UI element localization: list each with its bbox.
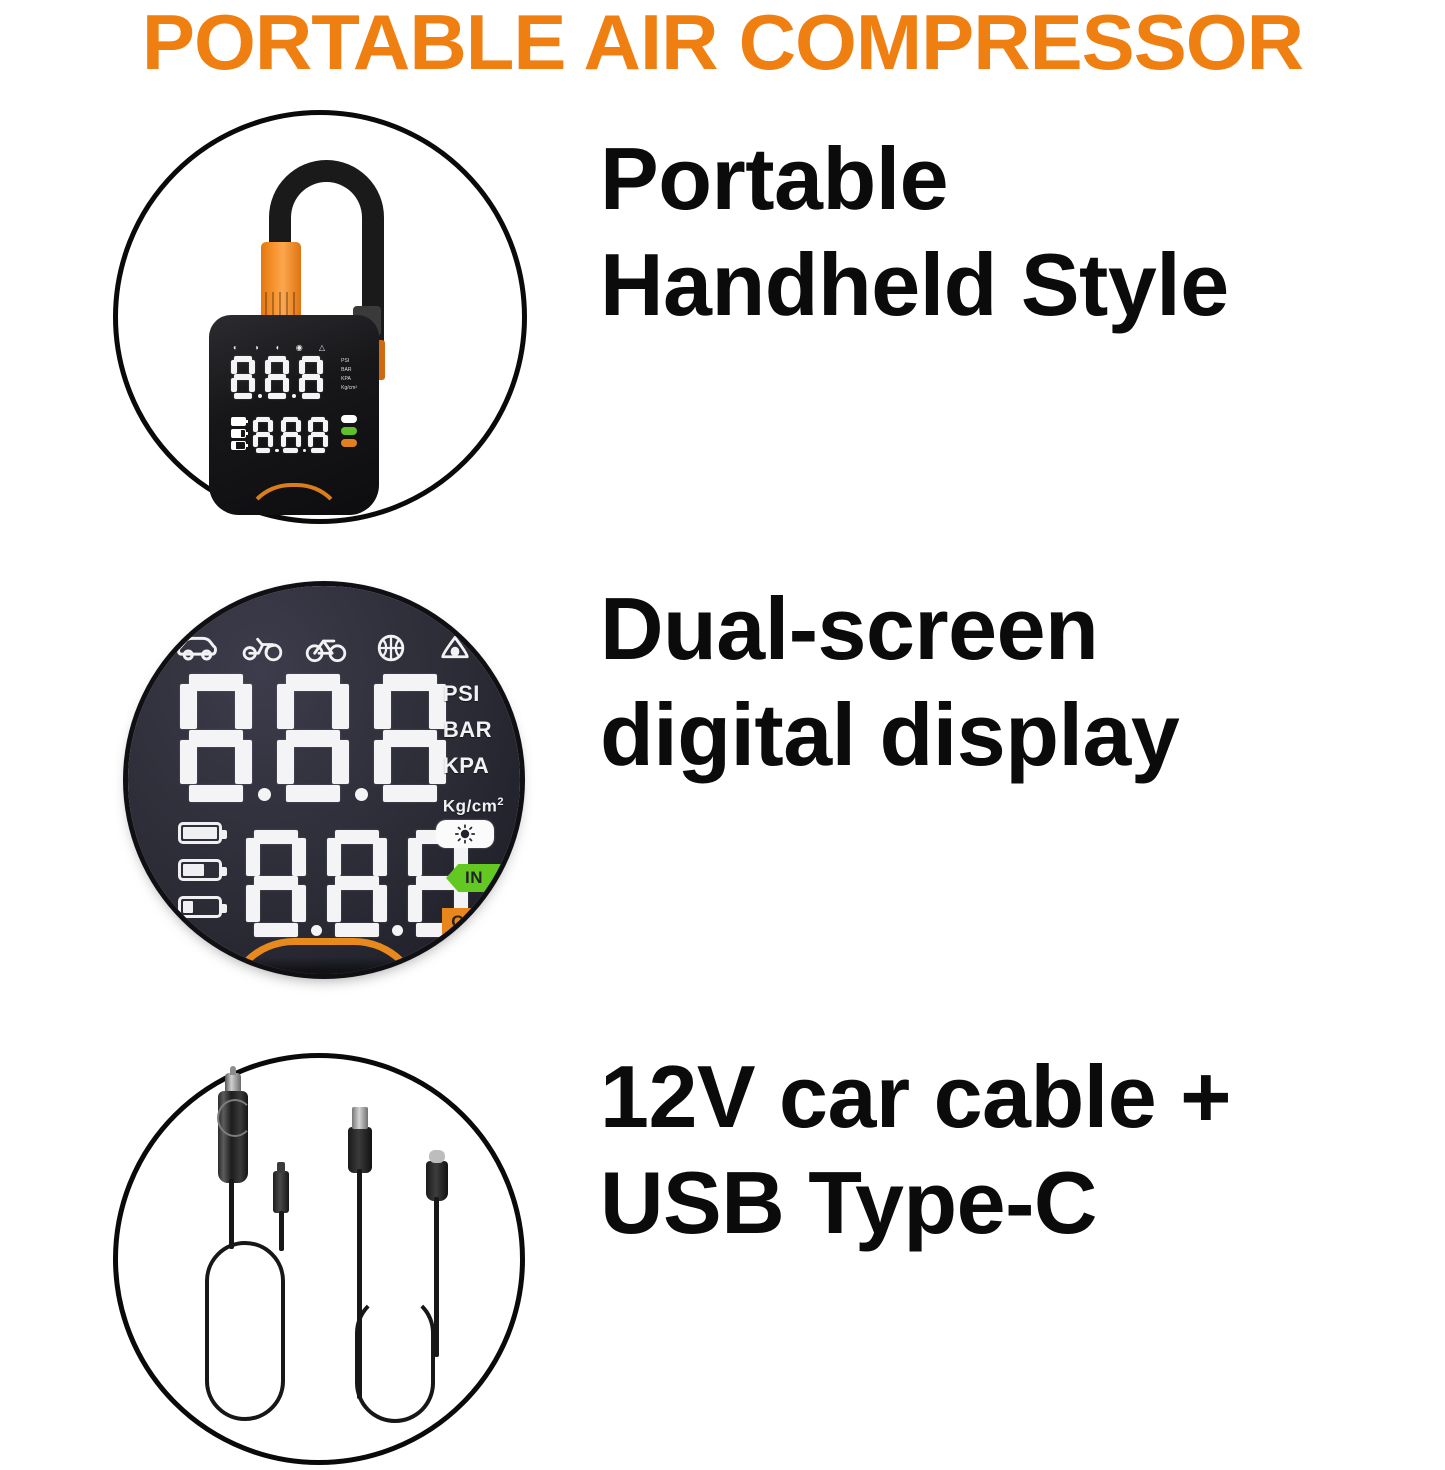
unit-labels: PSI BAR KPA Kg/cm2	[443, 676, 504, 825]
segment-d	[311, 448, 326, 453]
inflatable-icon: △	[319, 343, 325, 353]
unit-psi: PSI	[443, 676, 504, 712]
segment-b	[332, 684, 349, 729]
inflatable-icon	[434, 632, 476, 664]
decimal-point	[258, 394, 262, 398]
mini-unit-kgcm2: Kg/cm²	[341, 384, 357, 393]
mini-unit-bar: BAR	[341, 366, 357, 375]
bicycle-icon	[305, 632, 347, 664]
car-icon: ◐	[233, 343, 238, 353]
in-badge-label: IN	[465, 868, 483, 888]
mini-unit-psi: PSI	[341, 357, 357, 366]
segment-e	[180, 740, 197, 785]
car-cable-loop	[205, 1241, 285, 1421]
dc-cable-wire	[279, 1211, 284, 1251]
segment-e	[308, 435, 313, 447]
battery-icon-medium	[231, 429, 246, 438]
segment-d	[234, 393, 251, 399]
car-icon	[176, 632, 218, 664]
segment-f	[231, 360, 237, 374]
segment-b	[292, 838, 306, 875]
page-title: PORTABLE AIR COMPRESSOR	[0, 0, 1445, 90]
car-cable-wire-top	[229, 1179, 234, 1249]
segment-f	[277, 684, 294, 729]
segment-b	[268, 420, 273, 432]
battery-icon-full	[178, 822, 222, 844]
decimal-point	[355, 788, 368, 801]
battery-icon-low	[231, 441, 246, 450]
segment-e	[281, 435, 286, 447]
segment-d	[189, 785, 242, 802]
segment-e	[277, 740, 294, 785]
seven-segment-digit	[180, 674, 252, 802]
segment-e	[253, 435, 258, 447]
segment-b	[283, 360, 289, 374]
handheld-compressor-photo: ◐ ◑ ◖ ◉ △ PSI BAR KPA Kg/cm²	[113, 110, 527, 524]
dc-barrel-connector	[273, 1171, 289, 1213]
feature-2-caption: Dual-screen digital display	[600, 576, 1179, 788]
seven-segment-digit	[374, 674, 446, 802]
mini-main-reading	[231, 356, 357, 399]
segment-f	[308, 420, 313, 432]
segment-f	[265, 360, 271, 374]
segment-b	[317, 360, 323, 374]
feature-3-caption: 12V car cable + USB Type-C	[600, 1044, 1231, 1256]
decimal-point	[258, 788, 271, 801]
out-badge-label: OUT	[451, 912, 488, 932]
segment-f	[408, 838, 422, 875]
mini-lcd-screen: ◐ ◑ ◖ ◉ △ PSI BAR KPA Kg/cm²	[231, 343, 357, 463]
bicycle-icon: ◖	[275, 343, 280, 353]
seven-segment-digit	[265, 356, 289, 399]
segment-e	[299, 378, 305, 392]
segment-c	[235, 740, 252, 785]
mini-sub-reading	[253, 417, 328, 453]
usb-cable-wire-right	[434, 1197, 439, 1357]
segment-e	[265, 378, 271, 392]
segment-d	[302, 393, 319, 399]
unit-kpa: KPA	[443, 748, 504, 784]
light-icon	[436, 820, 494, 848]
seven-segment-digit	[253, 417, 273, 453]
motorcycle-icon: ◑	[254, 343, 259, 353]
mini-unit-labels: PSI BAR KPA Kg/cm²	[341, 357, 357, 393]
basketball-icon: ◉	[296, 343, 303, 353]
mini-unit-kpa: KPA	[341, 375, 357, 384]
segment-c	[317, 378, 323, 392]
in-badge: IN	[446, 864, 502, 892]
cables-photo	[113, 1053, 525, 1465]
segment-f	[253, 420, 258, 432]
decimal-point	[275, 449, 279, 453]
segment-e	[231, 378, 237, 392]
usb-a-connector	[348, 1127, 372, 1173]
battery-icon-full	[231, 417, 246, 426]
segment-b	[235, 684, 252, 729]
seven-segment-digit	[299, 356, 323, 399]
car-plug-ring	[217, 1099, 253, 1137]
segment-b	[296, 420, 301, 432]
light-icon	[341, 415, 357, 423]
segment-b	[373, 838, 387, 875]
seven-segment-digit	[281, 417, 301, 453]
segment-f	[180, 684, 197, 729]
usb-cable-loop	[355, 1293, 435, 1423]
segment-d	[283, 448, 298, 453]
segment-f	[327, 838, 341, 875]
segment-d	[268, 393, 285, 399]
in-badge	[341, 427, 357, 435]
segment-f	[281, 420, 286, 432]
decimal-point	[303, 449, 307, 453]
indicator-column: IN OUT	[436, 820, 508, 936]
mini-battery-column	[231, 417, 246, 453]
battery-icon-medium	[178, 859, 222, 881]
segment-d	[256, 448, 271, 453]
mini-indicator-column	[341, 415, 357, 451]
compressor-body: ◐ ◑ ◖ ◉ △ PSI BAR KPA Kg/cm²	[209, 315, 379, 515]
segment-c	[249, 378, 255, 392]
motorcycle-icon	[241, 632, 283, 664]
display-disc-body: PSI BAR KPA Kg/cm2	[128, 586, 520, 974]
segment-d	[383, 785, 436, 802]
segment-f	[246, 838, 260, 875]
segment-c	[332, 740, 349, 785]
mode-icon-row	[176, 632, 476, 664]
segment-c	[323, 435, 328, 447]
dual-screen-display-photo: PSI BAR KPA Kg/cm2	[128, 586, 520, 986]
feature-1-caption: Portable Handheld Style	[600, 126, 1229, 338]
segment-c	[296, 435, 301, 447]
segment-b	[323, 420, 328, 432]
out-badge: OUT	[442, 908, 498, 936]
unit-kgcm2: Kg/cm2	[443, 784, 504, 825]
seven-segment-digit	[308, 417, 328, 453]
unit-bar: BAR	[443, 712, 504, 748]
decimal-point	[292, 394, 296, 398]
mini-mode-icon-row: ◐ ◑ ◖ ◉ △	[233, 343, 325, 353]
seven-segment-digit	[277, 674, 349, 802]
out-badge	[341, 439, 357, 447]
infographic-page: PORTABLE AIR COMPRESSOR ◐ ◑ ◖ ◉ △ PSI BA…	[0, 0, 1445, 1470]
segment-e	[374, 740, 391, 785]
segment-c	[268, 435, 273, 447]
segment-c	[373, 885, 387, 922]
main-reading	[180, 674, 446, 802]
orange-accent-arc	[241, 483, 347, 515]
battery-icon-low	[178, 896, 222, 918]
segment-c	[283, 378, 289, 392]
segment-b	[249, 360, 255, 374]
orange-nozzle	[261, 242, 301, 326]
segment-f	[299, 360, 305, 374]
segment-d	[286, 785, 339, 802]
seven-segment-digit	[231, 356, 255, 399]
basketball-icon	[370, 632, 412, 664]
lamp-glyph	[454, 824, 476, 844]
usb-c-connector	[426, 1161, 448, 1201]
battery-column	[178, 822, 222, 933]
segment-e	[246, 885, 260, 922]
segment-f	[374, 684, 391, 729]
segment-e	[408, 885, 422, 922]
